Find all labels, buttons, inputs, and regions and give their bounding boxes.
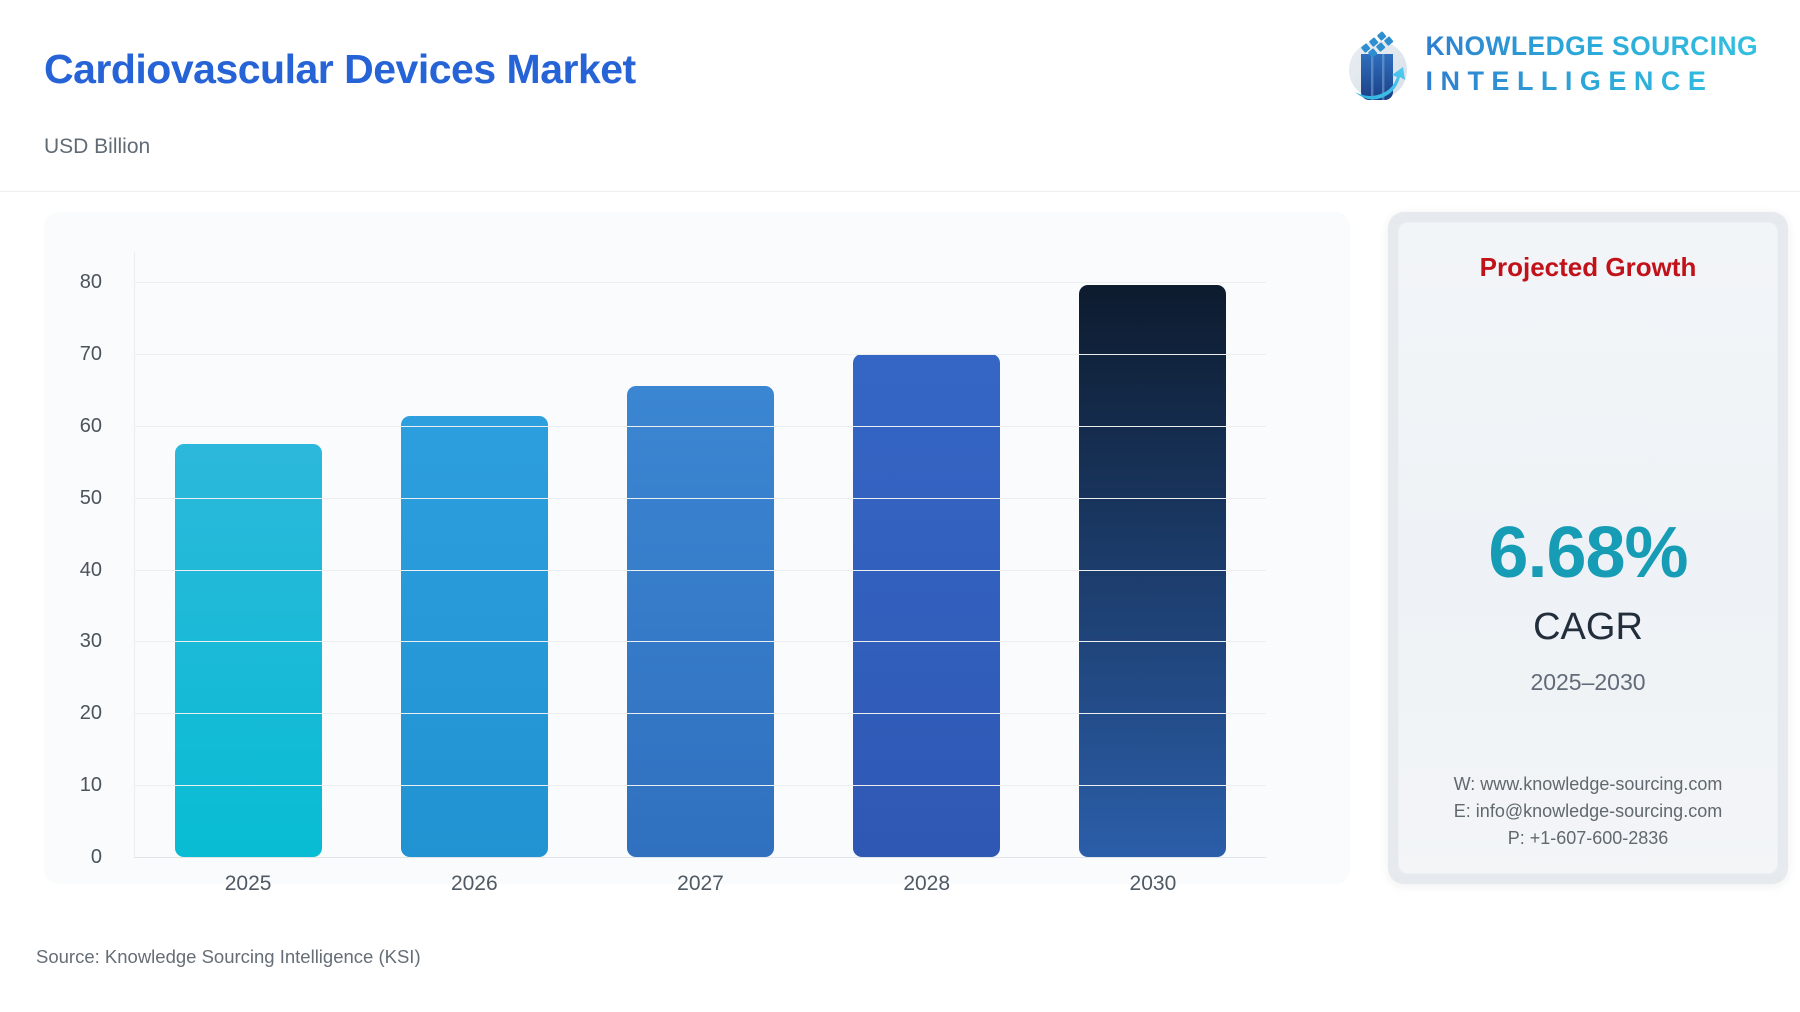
bar-2030[interactable] xyxy=(1079,285,1226,857)
chart-card: 0102030405060708020252026202720282030 xyxy=(44,212,1350,884)
gridline xyxy=(134,498,1266,499)
gridline xyxy=(134,785,1266,786)
panel-title: Projected Growth xyxy=(1398,252,1778,283)
page-header: Cardiovascular Devices Market USD Billio… xyxy=(0,0,1800,192)
bar-2025[interactable] xyxy=(175,444,322,857)
page-title: Cardiovascular Devices Market xyxy=(44,46,636,93)
contact-email[interactable]: E: info@knowledge-sourcing.com xyxy=(1398,798,1778,825)
gridline xyxy=(134,426,1266,427)
x-axis-tick-label: 2027 xyxy=(601,872,801,896)
contact-info: W: www.knowledge-sourcing.com E: info@kn… xyxy=(1398,771,1778,852)
y-axis-tick-label: 40 xyxy=(42,559,102,582)
y-axis-tick-label: 10 xyxy=(42,774,102,797)
gridline xyxy=(134,282,1266,283)
gridline xyxy=(134,713,1266,714)
contact-phone[interactable]: P: +1-607-600-2836 xyxy=(1398,825,1778,852)
x-axis-tick-label: 2030 xyxy=(1053,872,1253,896)
cagr-label: CAGR xyxy=(1398,606,1778,649)
y-axis-tick-label: 80 xyxy=(42,271,102,294)
bar-2028[interactable] xyxy=(853,354,1000,857)
source-note: Source: Knowledge Sourcing Intelligence … xyxy=(36,946,421,968)
logo-line-2: INTELLIGENCE xyxy=(1425,68,1758,95)
logo-wordmark: KNOWLEDGE SOURCING INTELLIGENCE xyxy=(1425,33,1758,96)
y-axis-tick-label: 30 xyxy=(42,630,102,653)
x-axis-tick-label: 2025 xyxy=(148,872,348,896)
brand-logo: KNOWLEDGE SOURCING INTELLIGENCE xyxy=(1339,26,1758,102)
knowledge-sourcing-logo-icon xyxy=(1339,26,1413,102)
projected-growth-panel: Projected Growth 6.68% CAGR 2025–2030 W:… xyxy=(1388,212,1788,884)
bar-2026[interactable] xyxy=(401,416,548,857)
bar-series xyxy=(135,212,1266,858)
y-axis-tick-label: 0 xyxy=(42,846,102,869)
cagr-period: 2025–2030 xyxy=(1398,669,1778,696)
bar-chart-plot: 0102030405060708020252026202720282030 xyxy=(44,212,1350,884)
x-axis-tick-label: 2028 xyxy=(827,872,1027,896)
contact-website[interactable]: W: www.knowledge-sourcing.com xyxy=(1398,771,1778,798)
gridline xyxy=(134,354,1266,355)
y-axis-tick-label: 70 xyxy=(42,343,102,366)
chart-page: Cardiovascular Devices Market USD Billio… xyxy=(0,0,1800,1012)
gridline xyxy=(134,641,1266,642)
y-axis-tick-label: 60 xyxy=(42,415,102,438)
bar-2027[interactable] xyxy=(627,386,774,857)
logo-line-1: KNOWLEDGE SOURCING xyxy=(1425,33,1758,60)
gridline xyxy=(134,570,1266,571)
y-axis-tick-label: 50 xyxy=(42,487,102,510)
projected-growth-panel-inner: Projected Growth 6.68% CAGR 2025–2030 W:… xyxy=(1398,222,1778,874)
x-axis-tick-label: 2026 xyxy=(374,872,574,896)
y-axis-tick-label: 20 xyxy=(42,702,102,725)
page-subtitle: USD Billion xyxy=(44,135,150,159)
cagr-value: 6.68% xyxy=(1398,512,1778,594)
